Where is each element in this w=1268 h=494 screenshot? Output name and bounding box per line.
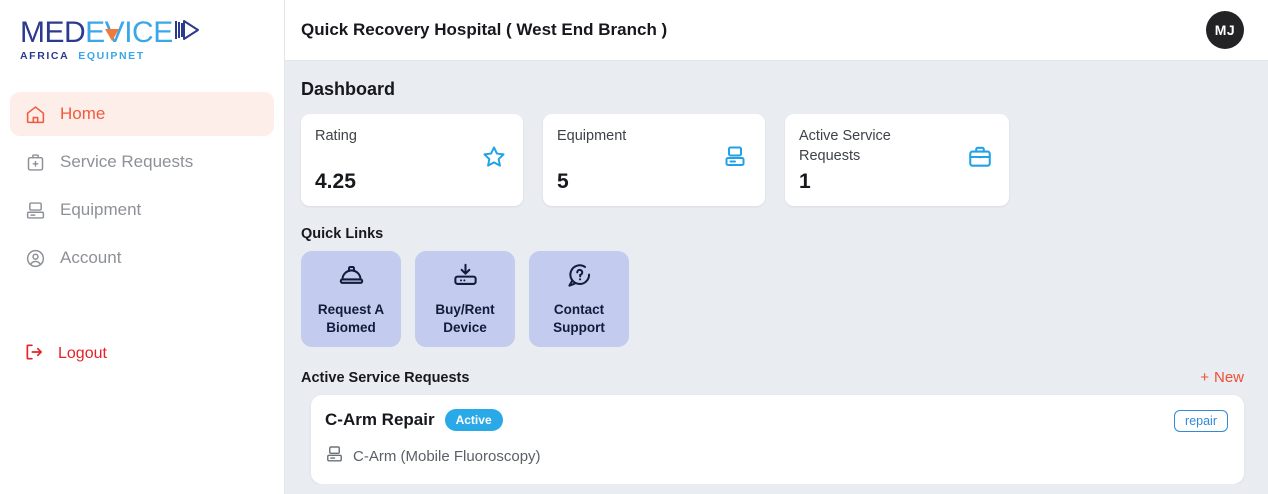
brand-logo[interactable]: MED EVICE AFRICA EQUIPNET <box>0 0 284 78</box>
logout-icon <box>24 342 44 367</box>
sidebar-item-home[interactable]: Home <box>10 92 274 136</box>
sidebar-item-label: Service Requests <box>60 152 193 172</box>
stat-value: 5 <box>557 170 569 194</box>
stat-value: 1 <box>799 170 811 194</box>
hardhat-icon <box>338 262 365 294</box>
sidebar-item-label: Account <box>60 248 121 268</box>
new-request-label: New <box>1214 369 1244 386</box>
logout-label: Logout <box>58 345 107 363</box>
page-title: Dashboard <box>301 79 1252 100</box>
service-request-type-tag[interactable]: repair <box>1174 410 1228 432</box>
download-device-icon <box>452 262 479 294</box>
brand-play-arrow-icon <box>174 18 200 46</box>
quick-link-buy-rent-device[interactable]: Buy/Rent Device <box>415 251 515 347</box>
star-icon <box>481 144 507 170</box>
user-circle-icon <box>24 247 46 269</box>
logout-button[interactable]: Logout <box>10 338 121 370</box>
home-icon <box>24 103 46 125</box>
service-request-name: C-Arm Repair <box>325 410 435 430</box>
top-bar: Quick Recovery Hospital ( West End Branc… <box>285 0 1268 61</box>
medkit-icon <box>24 151 46 173</box>
brand-triangle-icon <box>105 29 119 41</box>
stat-cards: Rating 4.25 Equipment 5 <box>301 114 1252 206</box>
active-service-requests-title: Active Service Requests <box>301 370 469 386</box>
service-request-equipment: C-Arm (Mobile Fluoroscopy) <box>325 445 1228 468</box>
avatar[interactable]: MJ <box>1206 11 1244 49</box>
sidebar-item-label: Home <box>60 104 105 124</box>
sidebar-nav: Home Service Requests <box>0 78 284 280</box>
stat-card-rating[interactable]: Rating 4.25 <box>301 114 523 206</box>
page-header-title: Quick Recovery Hospital ( West End Branc… <box>301 20 667 40</box>
brand-tagline: AFRICA EQUIPNET <box>20 50 284 62</box>
brand-tagline-right: EQUIPNET <box>78 50 144 62</box>
app-root: MED EVICE AFRICA EQUIPNET <box>0 0 1268 494</box>
dashboard-content: Dashboard Rating 4.25 Equipment 5 <box>285 61 1268 484</box>
quick-link-contact-support[interactable]: Contact Support <box>529 251 629 347</box>
sidebar-item-equipment[interactable]: Equipment <box>10 188 274 232</box>
stat-label: Active Service Requests <box>799 127 929 166</box>
service-request-heading: C-Arm Repair Active <box>325 409 1228 431</box>
brand-name-part1: MED <box>20 18 85 48</box>
quick-link-request-a-biomed[interactable]: Request A Biomed <box>301 251 401 347</box>
stat-card-active-service-requests[interactable]: Active Service Requests 1 <box>785 114 1009 206</box>
quick-link-label: Contact Support <box>529 301 629 337</box>
question-chat-icon <box>566 262 593 294</box>
brand-name-part2-text: EVICE <box>85 16 173 49</box>
sidebar-item-account[interactable]: Account <box>10 236 274 280</box>
quick-links-title: Quick Links <box>301 226 1252 242</box>
quick-link-label: Request A Biomed <box>301 301 401 337</box>
device-icon <box>24 199 46 221</box>
device-icon <box>325 445 344 468</box>
active-service-requests-header: Active Service Requests + New <box>301 369 1252 386</box>
stat-label: Equipment <box>557 127 687 147</box>
quick-link-label: Buy/Rent Device <box>415 301 515 337</box>
brand-name-part2: EVICE <box>85 18 173 48</box>
sidebar-item-service-requests[interactable]: Service Requests <box>10 140 274 184</box>
stat-label: Rating <box>315 127 445 147</box>
brand-logo-main: MED EVICE <box>20 18 284 48</box>
brand-tagline-left: AFRICA <box>20 50 69 62</box>
status-badge: Active <box>445 409 503 431</box>
plus-icon: + <box>1200 369 1209 386</box>
quick-links: Request A Biomed Buy/Rent Device <box>301 251 1252 347</box>
stat-value: 4.25 <box>315 170 356 194</box>
sidebar: MED EVICE AFRICA EQUIPNET <box>0 0 285 494</box>
main-area: Quick Recovery Hospital ( West End Branc… <box>285 0 1268 494</box>
stat-card-equipment[interactable]: Equipment 5 <box>543 114 765 206</box>
sidebar-item-label: Equipment <box>60 200 141 220</box>
service-request-equipment-label: C-Arm (Mobile Fluoroscopy) <box>353 448 541 465</box>
new-request-button[interactable]: + New <box>1200 369 1244 386</box>
device-icon <box>723 144 749 170</box>
service-request-row[interactable]: C-Arm Repair Active repair C-Arm (Mobile… <box>311 395 1244 484</box>
briefcase-icon <box>967 144 993 170</box>
